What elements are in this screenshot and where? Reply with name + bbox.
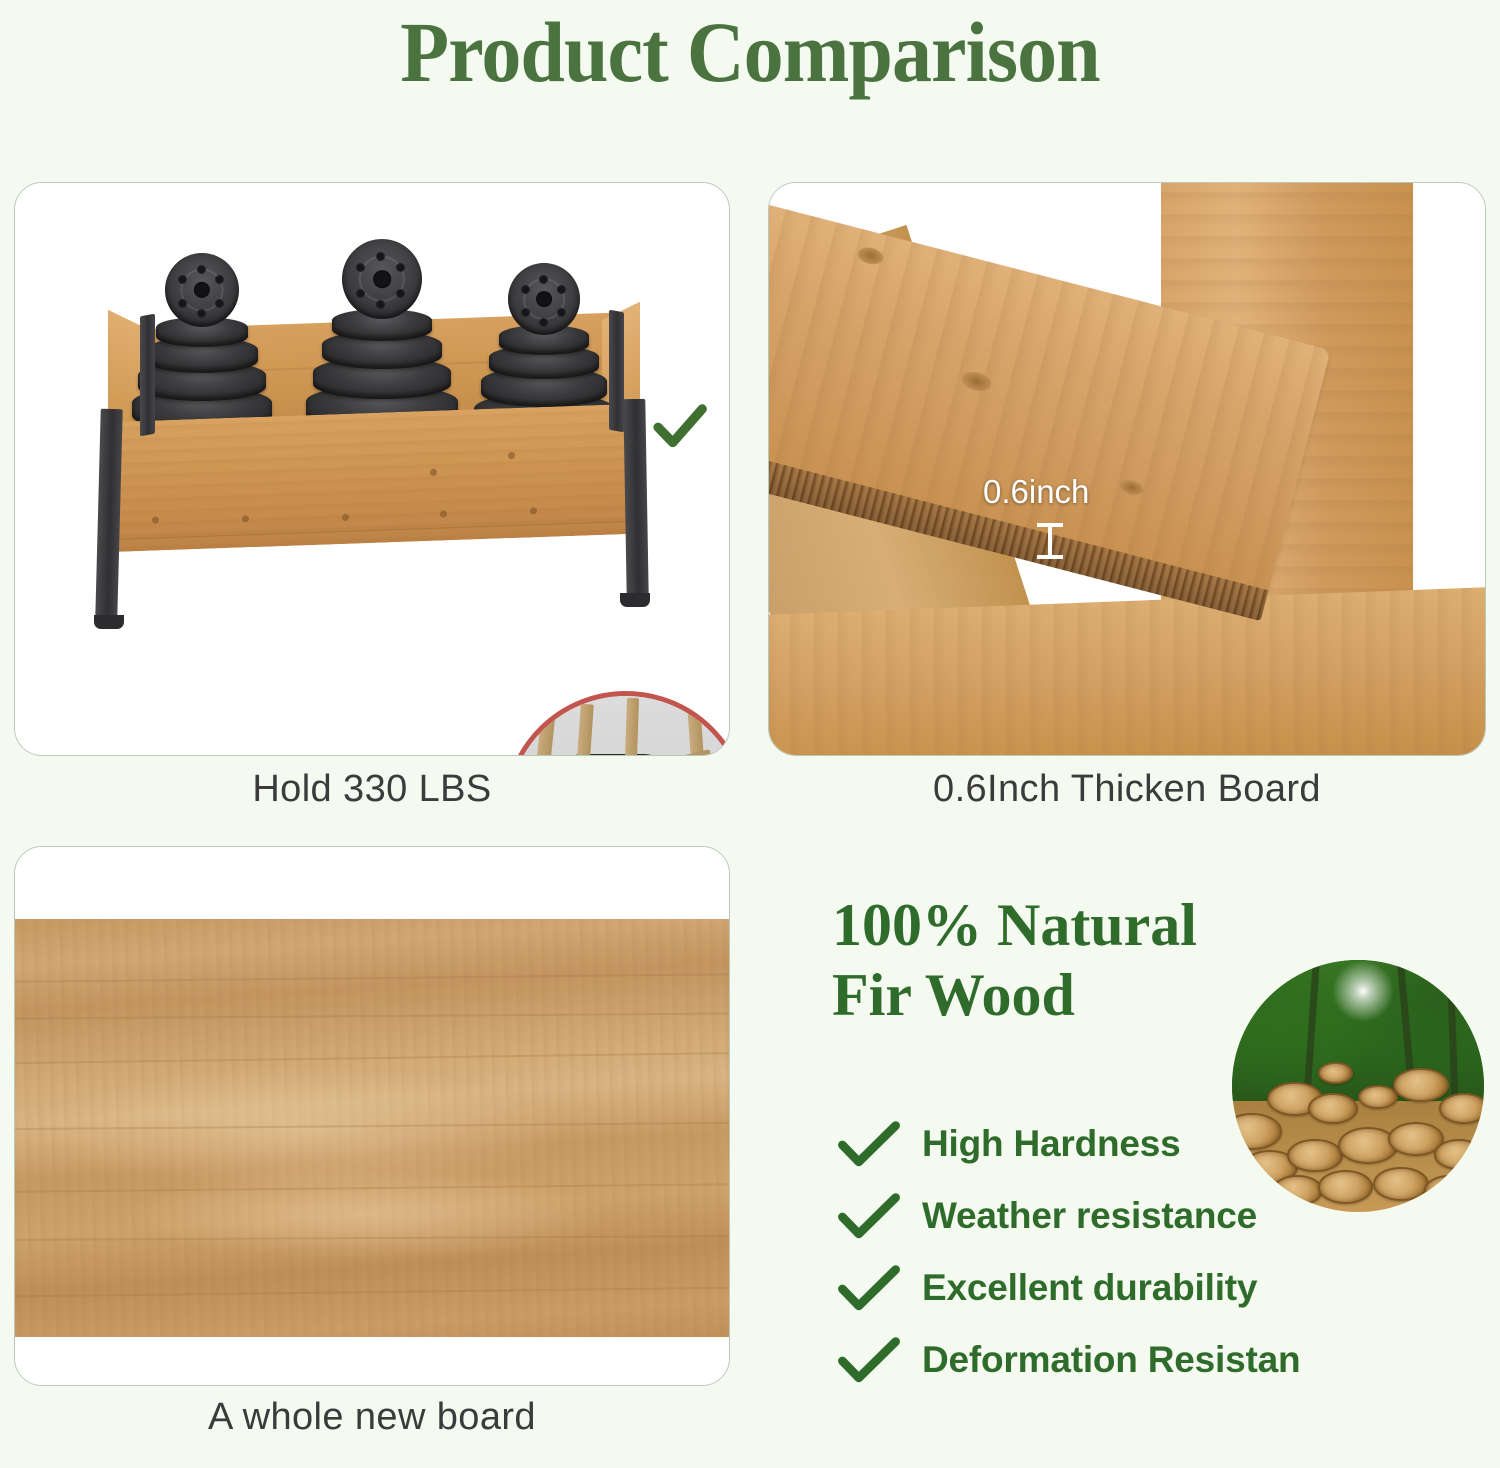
- planter-foot-right: [620, 593, 650, 607]
- thick-board-photo: 0.6inch 0.3in: [769, 183, 1485, 755]
- new-board-photo: [15, 847, 729, 1385]
- caption-board: A whole new board: [14, 1396, 730, 1439]
- feature-item-weather-resistance: Weather resistance: [838, 1180, 1398, 1252]
- feature-item-excellent-durability: Excellent durability: [838, 1252, 1398, 1324]
- page-title: Product Comparison: [53, 4, 1448, 100]
- thickness-label-good: 0.6inch: [983, 473, 1089, 511]
- material-heading-line1: 100% Natural: [832, 890, 1352, 960]
- feature-label: Deformation Resistan: [922, 1339, 1300, 1381]
- feature-item-high-hardness: High Hardness: [838, 1108, 1398, 1180]
- feature-item-deformation-resistan: Deformation Resistan: [838, 1324, 1398, 1396]
- feature-label: Weather resistance: [922, 1195, 1257, 1237]
- inset-bad-planter: [503, 691, 730, 756]
- check-icon: [649, 395, 711, 457]
- panel-thicken-board: 0.6inch 0.3in: [768, 182, 1486, 756]
- check-icon: [838, 1337, 900, 1383]
- planter-leg-front-right: [623, 399, 648, 597]
- weight-stack-center: [306, 263, 458, 431]
- caption-thicken: 0.6Inch Thicken Board: [768, 768, 1486, 811]
- caption-hold: Hold 330 LBS: [14, 768, 730, 811]
- bottom-plank-upper: [768, 587, 1486, 756]
- planter-with-weights-photo: [15, 183, 729, 755]
- check-icon: [838, 1265, 900, 1311]
- feature-label: Excellent durability: [922, 1267, 1257, 1309]
- collapsed-planter-photo: [508, 696, 730, 756]
- dimension-marker-good: [1037, 523, 1063, 559]
- panel-hold-330-lbs: [14, 182, 730, 756]
- planter-box: [90, 303, 650, 543]
- solid-wood-board: [14, 919, 730, 1337]
- planter-leg-back-right: [609, 310, 624, 433]
- feature-label: High Hardness: [922, 1123, 1181, 1165]
- planter-front-wall: [110, 404, 632, 552]
- material-feature-list: High Hardness Weather resistance Excelle…: [838, 1108, 1398, 1396]
- planter-leg-front-left: [95, 409, 122, 620]
- check-icon: [838, 1193, 900, 1239]
- panel-whole-new-board: [14, 846, 730, 1386]
- planter-leg-back-left: [140, 314, 155, 437]
- planter-foot-left: [94, 615, 124, 629]
- infographic-page: Product Comparison: [0, 0, 1500, 1468]
- check-icon: [838, 1121, 900, 1167]
